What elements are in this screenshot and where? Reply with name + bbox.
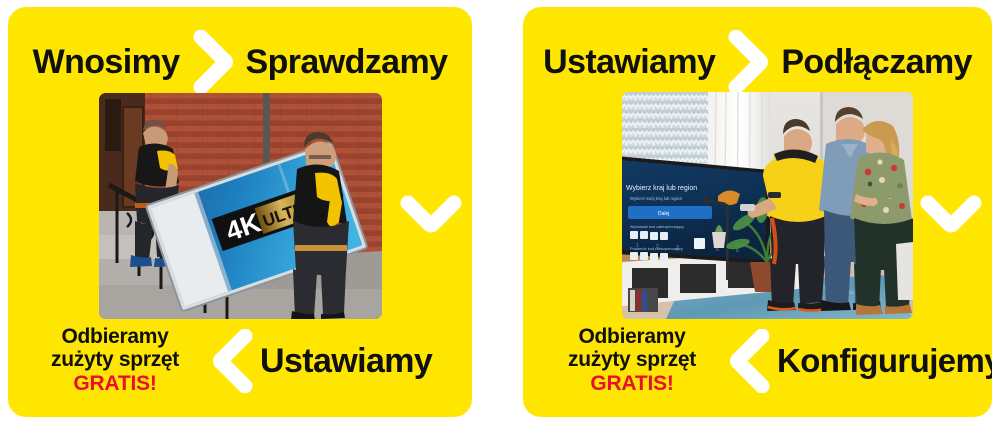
chevron-down-icon — [920, 193, 982, 237]
service-step-card-left: Wnosimy Sprawdzamy — [8, 7, 472, 417]
service-step-card-right: Ustawiamy Podłączamy — [523, 7, 992, 417]
photo-carrying-tv: 4K ULTRA HD — [99, 93, 382, 319]
photo-configuring-tv: Wybierz kraj lub region Wybierz swój kra… — [622, 92, 913, 319]
headline-step-2: Podłączamy — [781, 45, 972, 79]
svg-text:Wprowadź kod zabezpieczający: Wprowadź kod zabezpieczający — [630, 225, 684, 229]
chevron-right-icon — [725, 30, 771, 94]
takeback-note: Odbieramy zużyty sprzęt GRATIS! — [22, 326, 208, 395]
takeback-line-2: zużyty sprzęt — [539, 349, 725, 372]
takeback-note: Odbieramy zużyty sprzęt GRATIS! — [539, 326, 725, 395]
svg-text:1: 1 — [636, 243, 639, 249]
footer-step-label: Ustawiamy — [260, 342, 432, 381]
takeback-free-badge: GRATIS! — [539, 373, 725, 396]
chevron-left-icon — [727, 329, 773, 393]
takeback-free-badge: GRATIS! — [22, 373, 208, 396]
chevron-right-icon — [190, 30, 236, 94]
headline-row-right: Ustawiamy Podłączamy — [523, 33, 992, 91]
footer-step-label: Konfigurujemy — [777, 342, 992, 380]
svg-text:Dalej: Dalej — [658, 211, 669, 217]
chevron-down-icon — [400, 193, 462, 237]
headline-row-left: Wnosimy Sprawdzamy — [8, 33, 472, 91]
takeback-line-1: Odbieramy — [22, 326, 208, 349]
footer-row-left: Odbieramy zużyty sprzęt GRATIS! Ustawiam… — [8, 313, 472, 409]
footer-row-right: Odbieramy zużyty sprzęt GRATIS! Konfigur… — [523, 313, 992, 409]
svg-text:2: 2 — [656, 244, 659, 250]
chevron-left-icon — [210, 329, 256, 393]
headline-step-1: Wnosimy — [33, 45, 180, 79]
svg-text:Wybierz kraj lub region: Wybierz kraj lub region — [626, 185, 697, 192]
takeback-line-1: Odbieramy — [539, 326, 725, 349]
svg-text:Wybierz swój kraj lub region: Wybierz swój kraj lub region — [630, 196, 683, 201]
service-steps-banner: Wnosimy Sprawdzamy — [0, 0, 1000, 429]
headline-step-1: Ustawiamy — [543, 45, 715, 79]
svg-text:3: 3 — [676, 245, 679, 251]
headline-step-2: Sprawdzamy — [246, 45, 448, 79]
takeback-line-2: zużyty sprzęt — [22, 349, 208, 372]
